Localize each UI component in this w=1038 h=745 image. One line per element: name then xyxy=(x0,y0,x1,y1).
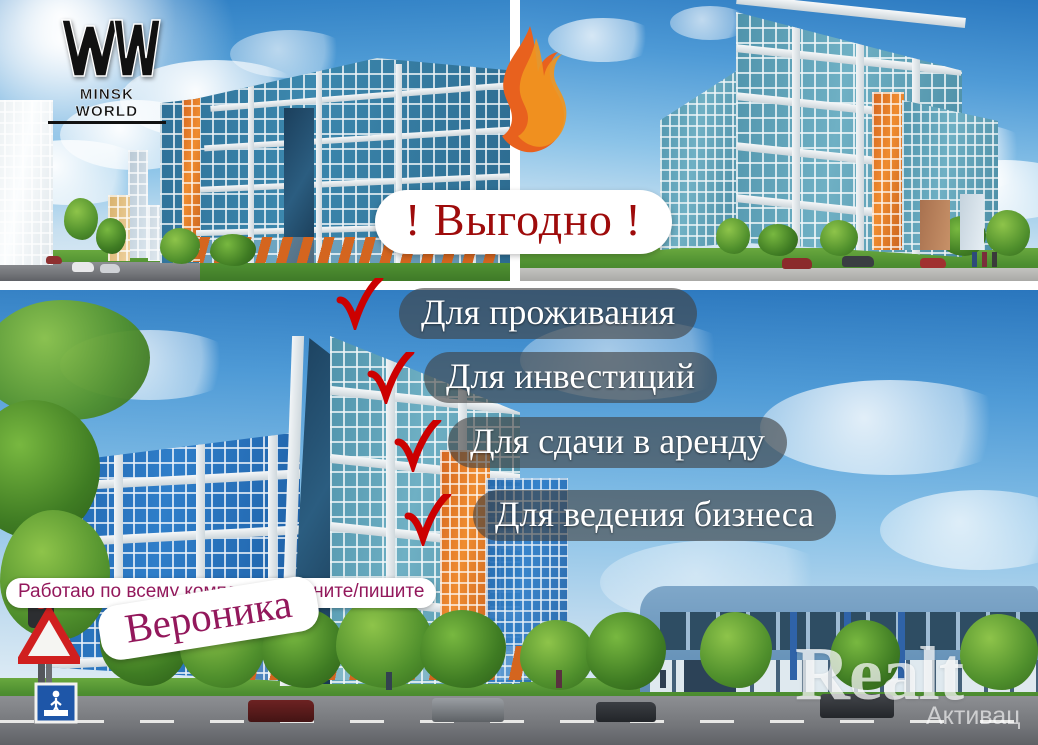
orange-accent-section xyxy=(872,92,904,250)
pedestrian xyxy=(556,670,562,688)
facade-column xyxy=(792,12,800,262)
benefit-pill-3: Для ведения бизнеса xyxy=(473,490,836,541)
headline-text: ! Выгодно ! xyxy=(405,196,642,244)
tree xyxy=(64,198,98,240)
headline-banner: ! Выгодно ! xyxy=(375,190,672,254)
pedestrian xyxy=(386,672,392,690)
benefit-pill-0: Для проживания xyxy=(399,288,697,339)
tree xyxy=(700,612,772,688)
sidewalk xyxy=(520,268,1038,281)
tree xyxy=(716,218,750,254)
tree xyxy=(336,596,432,688)
background-building xyxy=(920,200,950,250)
check-mark-icon xyxy=(336,278,384,330)
benefit-label: Для проживания xyxy=(421,292,675,332)
car xyxy=(920,258,946,268)
pedestrian-crossing-sign-icon xyxy=(34,682,78,724)
benefit-label: Для сдачи в аренду xyxy=(470,421,765,461)
tree xyxy=(96,218,126,254)
mw-monogram-icon xyxy=(48,14,168,104)
pedestrian xyxy=(972,252,977,267)
tree xyxy=(420,610,506,688)
car xyxy=(100,264,120,273)
benefit-label: Для инвестиций xyxy=(446,356,695,396)
window-grid xyxy=(128,150,148,258)
car xyxy=(432,698,504,722)
benefit-pill-2: Для сдачи в аренду xyxy=(448,417,787,468)
tree xyxy=(820,220,858,256)
tree xyxy=(986,210,1030,256)
tree xyxy=(160,228,200,264)
yield-road-sign-icon xyxy=(18,608,80,668)
flame-icon xyxy=(478,24,578,164)
benefit-pill-1: Для инвестиций xyxy=(424,352,717,403)
banner-flag xyxy=(790,612,797,680)
car xyxy=(596,702,656,722)
pedestrian xyxy=(992,252,997,267)
check-mark-icon xyxy=(404,494,452,546)
car xyxy=(248,700,314,722)
tree xyxy=(830,620,900,690)
road-marking xyxy=(0,720,1038,723)
check-mark-icon xyxy=(394,420,442,472)
pedestrian xyxy=(660,670,666,688)
window-grid xyxy=(0,100,53,265)
background-building xyxy=(960,194,984,250)
poster-canvas: MINSK WORLD xyxy=(0,0,1038,745)
tree xyxy=(758,224,798,256)
car xyxy=(46,256,62,264)
check-mark-icon xyxy=(367,352,415,404)
car xyxy=(820,694,894,718)
window-grid xyxy=(872,92,904,250)
facade-column xyxy=(316,66,322,266)
background-building xyxy=(0,100,53,265)
benefit-label: Для ведения бизнеса xyxy=(495,494,814,534)
minsk-world-logo: MINSK WORLD xyxy=(48,14,168,104)
tree xyxy=(960,614,1038,690)
tree xyxy=(210,234,256,266)
facade-column xyxy=(856,12,864,262)
car xyxy=(782,258,812,269)
car xyxy=(72,262,94,272)
car xyxy=(842,256,874,267)
background-tower xyxy=(128,150,148,258)
pedestrian xyxy=(982,252,987,267)
tree xyxy=(586,612,666,690)
